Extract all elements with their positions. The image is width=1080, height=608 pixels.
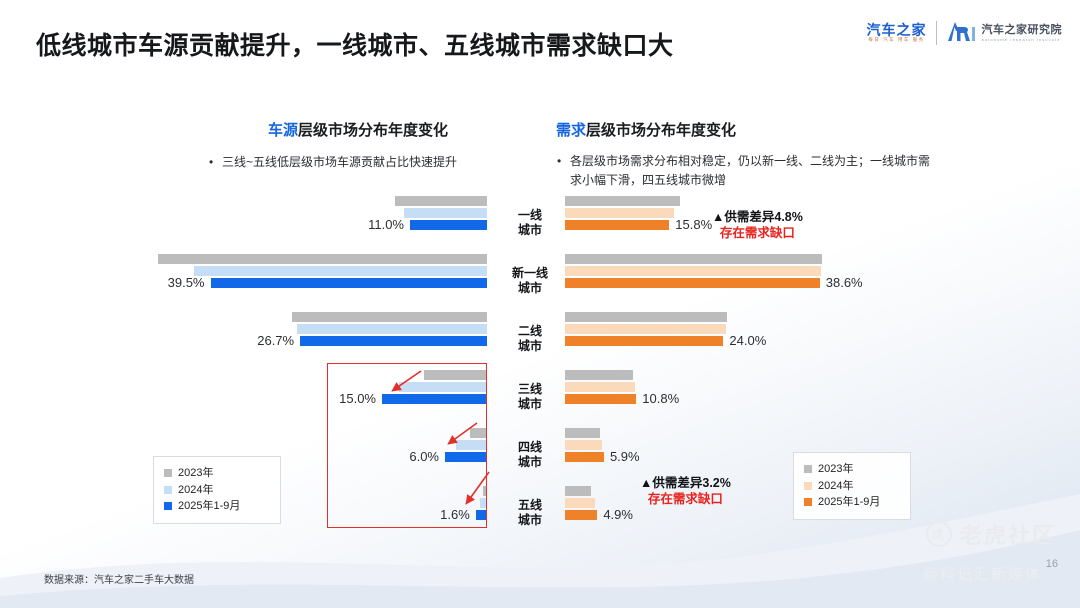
legend-label: 2024年	[178, 482, 213, 499]
institute-name-en: autohome research institute	[982, 37, 1063, 42]
right-panel-heading-highlight: 需求	[556, 122, 586, 139]
watermark-secondary: @科记汇新媒体	[923, 563, 1042, 584]
autohome-logo-subtext: 每日 汽车 用车 服务	[868, 37, 924, 43]
watermark-primary: 虎 老虎社区	[926, 518, 1056, 550]
low-tier-highlight-box	[327, 363, 487, 528]
watermark-logo-icon: 虎	[926, 521, 952, 547]
left-panel-bullet: • 三线~五线低层级市场车源贡献占比快速提升	[222, 153, 512, 172]
chart-bar	[410, 220, 487, 230]
left-panel-bullet-text: 三线~五线低层级市场车源贡献占比快速提升	[222, 155, 457, 169]
bullet-dot-icon: •	[209, 153, 213, 172]
autohome-logo: 汽车之家 每日 汽车 用车 服务	[867, 23, 927, 44]
chart-row: 5.9%	[565, 428, 825, 468]
gap-value-tier1: ▲供需差异4.8%	[712, 209, 803, 225]
page-title: 低线城市车源贡献提升，一线城市、五线城市需求缺口大	[36, 26, 674, 62]
chart-bar	[565, 498, 595, 508]
bar-value-label: 39.5%	[168, 275, 205, 290]
bullet-dot-icon: •	[557, 152, 561, 171]
legend-item: 2023年	[164, 465, 270, 482]
chart-row: 24.0%	[565, 312, 825, 352]
bar-value-label: 10.8%	[642, 391, 679, 406]
chart-bar	[565, 486, 591, 496]
bar-value-label: 15.8%	[675, 217, 712, 232]
legend-swatch	[164, 502, 172, 510]
legend-item: 2025年1-9月	[804, 494, 900, 511]
chart-bar	[565, 278, 820, 288]
left-panel-heading-highlight: 车源	[268, 122, 298, 139]
brand-logo: 汽车之家 每日 汽车 用车 服务 汽车之家研究院 autohome resear…	[867, 16, 1063, 50]
chart-row: 11.0%	[150, 196, 487, 236]
bar-value-label: 4.9%	[603, 507, 633, 522]
chart-bar	[292, 312, 487, 322]
watermark-primary-text: 老虎社区	[960, 518, 1056, 550]
legend-label: 2025年1-9月	[178, 498, 240, 515]
autohome-logo-text: 汽车之家	[867, 23, 927, 38]
left-panel-heading-rest: 层级市场分布年度变化	[298, 122, 448, 139]
chart-bar	[565, 382, 635, 392]
category-label-5: 四线城市	[495, 440, 565, 470]
right-panel-bullet-text: 各层级市场需求分布相对稳定，仍以新一线、二线为主；一线城市需求小幅下滑，四五线城…	[570, 154, 930, 187]
category-label-2: 新一线城市	[495, 266, 565, 296]
left-panel-heading: 车源层级市场分布年度变化	[268, 119, 448, 140]
research-institute-logo: 汽车之家研究院 autohome research institute	[946, 19, 1063, 48]
chart-bar	[297, 324, 487, 334]
chart-bar	[395, 196, 487, 206]
bar-value-label: 38.6%	[826, 275, 863, 290]
right-panel-bullet: • 各层级市场需求分布相对稳定，仍以新一线、二线为主；一线城市需求小幅下滑，四五…	[570, 152, 930, 189]
legend-item: 2025年1-9月	[164, 498, 270, 515]
bar-value-label: 11.0%	[368, 217, 404, 232]
bar-value-label: 5.9%	[610, 449, 640, 464]
chart-bar	[404, 208, 487, 218]
chart-bar	[565, 266, 821, 276]
gap-note-tier1: 存在需求缺口	[712, 225, 803, 241]
legend-swatch	[804, 498, 812, 506]
legend-swatch	[164, 469, 172, 477]
right-panel-heading-rest: 层级市场分布年度变化	[586, 122, 736, 139]
chart-bar	[565, 208, 674, 218]
chart-bar	[565, 336, 723, 346]
category-label-4: 三线城市	[495, 382, 565, 412]
chart-bar	[194, 266, 487, 276]
logo-divider	[936, 21, 937, 45]
data-source-note: 数据来源：汽车之家二手车大数据	[44, 571, 194, 586]
legend-swatch	[804, 465, 812, 473]
slide-canvas: 低线城市车源贡献提升，一线城市、五线城市需求缺口大 汽车之家 每日 汽车 用车 …	[0, 0, 1080, 608]
legend-swatch	[804, 482, 812, 490]
legend-label: 2023年	[178, 465, 213, 482]
ar-monogram-icon	[946, 19, 976, 48]
page-number: 16	[1046, 558, 1058, 570]
chart-bar	[565, 254, 822, 264]
demand-chart-legend: 2023年2024年2025年1-9月	[793, 452, 911, 520]
legend-label: 2023年	[818, 461, 853, 478]
gap-note-tier5: 存在需求缺口	[640, 491, 731, 507]
category-label-3: 二线城市	[495, 324, 565, 354]
chart-bar	[565, 428, 600, 438]
chart-bar	[565, 510, 597, 520]
institute-name-cn: 汽车之家研究院	[982, 24, 1063, 37]
legend-swatch	[164, 486, 172, 494]
chart-bar	[565, 440, 602, 450]
chart-bar	[211, 278, 488, 288]
category-label-6: 五线城市	[495, 498, 565, 528]
right-panel-heading: 需求层级市场分布年度变化	[556, 119, 736, 140]
supply-chart-legend: 2023年2024年2025年1-9月	[153, 456, 281, 524]
chart-row: 26.7%	[150, 312, 487, 352]
chart-row: 39.5%	[150, 254, 487, 294]
chart-bar	[565, 452, 604, 462]
legend-item: 2024年	[804, 478, 900, 495]
chart-bar	[158, 254, 487, 264]
category-label-1: 一线城市	[495, 208, 565, 238]
legend-label: 2024年	[818, 478, 853, 495]
legend-item: 2024年	[164, 482, 270, 499]
bar-value-label: 24.0%	[729, 333, 766, 348]
chart-bar	[565, 312, 727, 322]
gap-value-tier5: ▲供需差异3.2%	[640, 475, 731, 491]
supply-demand-gap-tier1: ▲供需差异4.8% 存在需求缺口	[712, 209, 803, 242]
chart-bar	[300, 336, 487, 346]
legend-item: 2023年	[804, 461, 900, 478]
chart-row: 10.8%	[565, 370, 825, 410]
bar-value-label: 26.7%	[257, 333, 294, 348]
chart-bar	[565, 324, 726, 334]
chart-bar	[565, 220, 669, 230]
chart-row: 38.6%	[565, 254, 825, 294]
chart-bar	[565, 394, 636, 404]
legend-label: 2025年1-9月	[818, 494, 880, 511]
supply-demand-gap-tier5: ▲供需差异3.2% 存在需求缺口	[640, 475, 731, 508]
chart-bar	[565, 370, 633, 380]
chart-bar	[565, 196, 680, 206]
